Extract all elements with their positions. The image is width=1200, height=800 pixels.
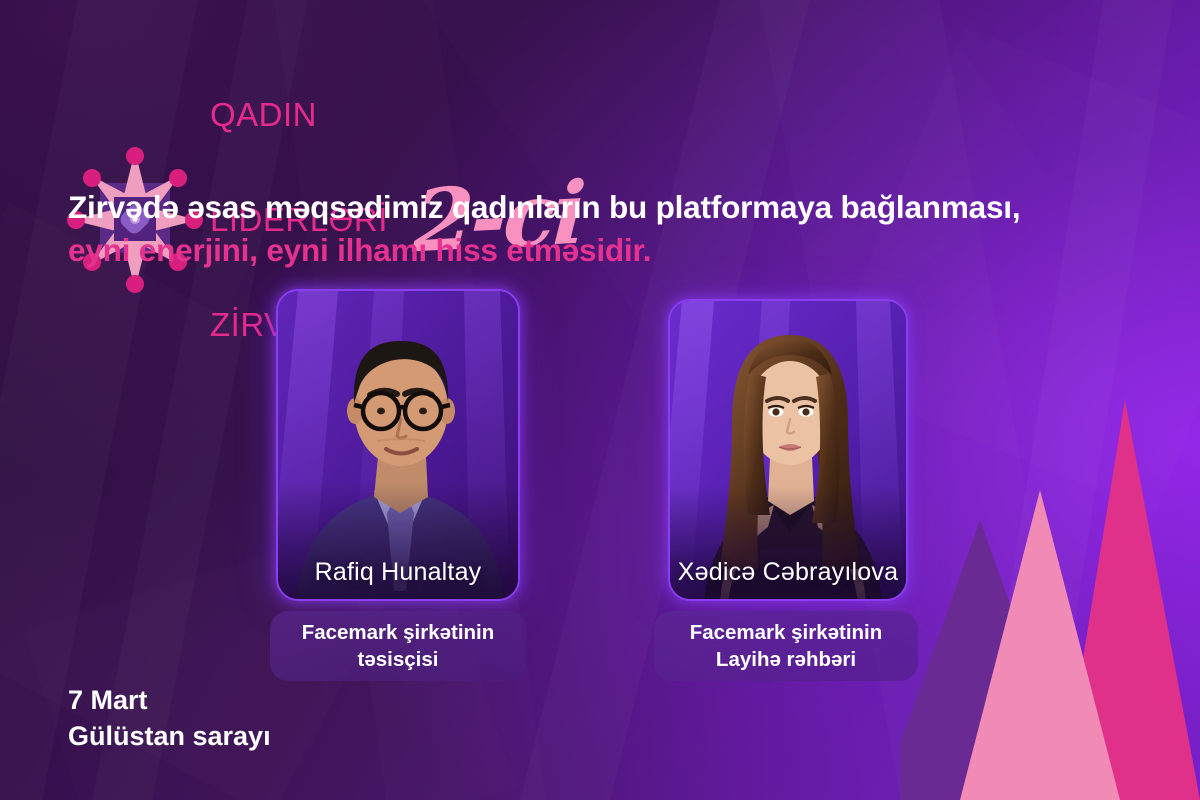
speaker-name-1: Rafiq Hunaltay xyxy=(278,558,518,587)
headline-primary: Zirvədə əsas məqsədimiz qadınların bu pl… xyxy=(68,189,1020,225)
speaker-photo-frame-2: Xədicə Cəbrayılova xyxy=(668,299,908,601)
event-venue: Gülüstan sarayı xyxy=(68,719,271,755)
event-date: 7 Mart xyxy=(68,683,271,719)
speaker-role-1: Facemark şirkətinin təsisçisi xyxy=(270,611,526,681)
speaker-photo-frame-1: Rafiq Hunaltay xyxy=(276,289,520,601)
speaker-card-2[interactable]: Xədicə Cəbrayılova Facemark şirkətinin L… xyxy=(668,299,908,601)
event-details: 7 Mart Gülüstan sarayı xyxy=(68,683,271,755)
headline: Zirvədə əsas məqsədimiz qadınların bu pl… xyxy=(68,186,1078,273)
event-poster: QADIN LİDERLƏRİ ZİRVƏSİ 2-ci Zirvədə əsa… xyxy=(0,0,1200,800)
speaker-photo-1 xyxy=(278,291,520,601)
speaker-name-2: Xədicə Cəbrayılova xyxy=(670,558,906,587)
speaker-photo-2 xyxy=(670,301,908,601)
speaker-role-2: Facemark şirkətinin Layihə rəhbəri xyxy=(654,611,918,681)
headline-accent: eyni enerjini, eyni ilhamı hiss etməsidi… xyxy=(68,232,651,268)
wordmark-line-1: QADIN xyxy=(210,98,388,133)
mountain-decoration xyxy=(900,380,1200,800)
speaker-card-1[interactable]: Rafiq Hunaltay Facemark şirkətinin təsis… xyxy=(276,289,520,601)
